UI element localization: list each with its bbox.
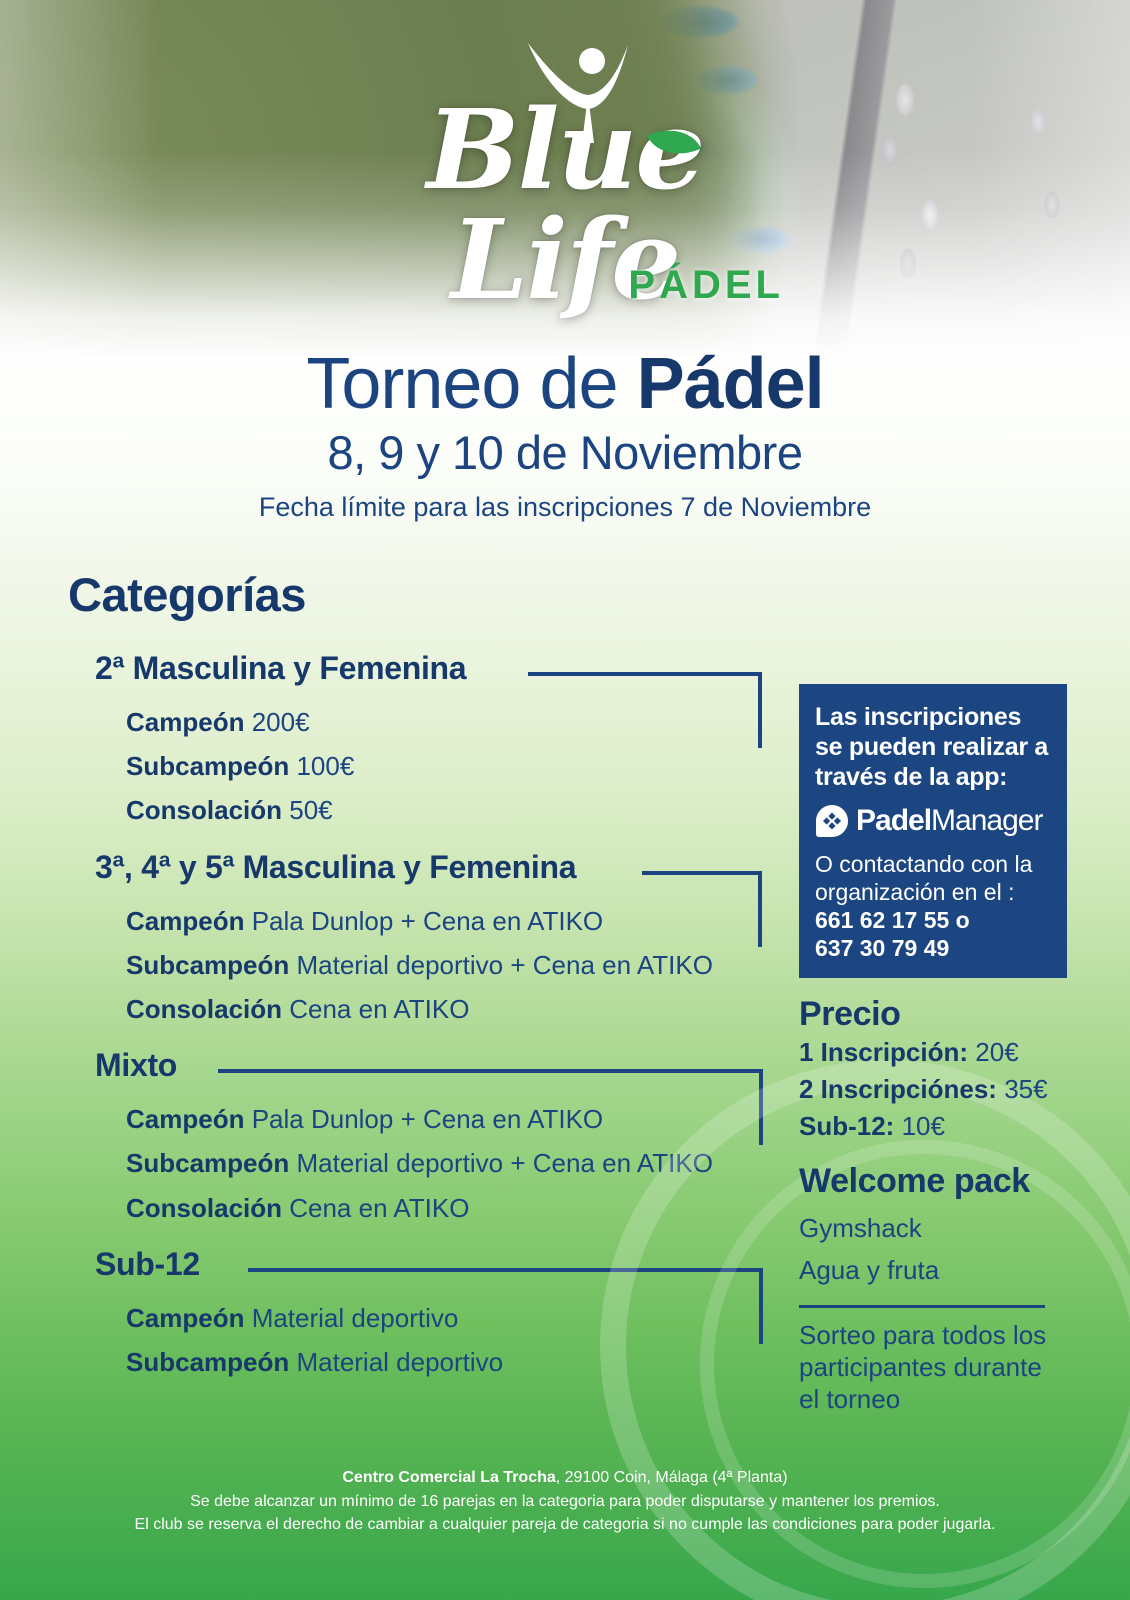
prize-value: Material deportivo bbox=[289, 1347, 503, 1377]
padelmanager-name-light: Manager bbox=[931, 804, 1042, 837]
padelmanager-wordmark: PadelManager bbox=[856, 806, 1042, 836]
prize-label: Consolación bbox=[126, 994, 282, 1024]
brand-subtitle: PÁDEL bbox=[628, 263, 784, 308]
prize-row: Campeón 200€ bbox=[126, 700, 790, 744]
category-block: Mixto Campeón Pala Dunlop + Cena en ATIK… bbox=[0, 1047, 790, 1230]
prize-row: Campeón Pala Dunlop + Cena en ATIKO bbox=[126, 1097, 790, 1141]
footer-venue-bold: Centro Comercial La Trocha bbox=[342, 1469, 555, 1486]
prize-label: Consolación bbox=[126, 795, 282, 825]
event-dates: 8, 9 y 10 de Noviembre bbox=[0, 425, 1130, 480]
categories-heading: Categorías bbox=[68, 567, 306, 622]
categories-list: 2ª Masculina y Femenina Campeón 200€ Sub… bbox=[0, 650, 790, 1390]
prize-list: Campeón 200€ Subcampeón 100€ Consolación… bbox=[0, 700, 790, 833]
price-row: Sub-12: 10€ bbox=[799, 1108, 1067, 1145]
contact-phone-2[interactable]: 637 30 79 49 bbox=[815, 934, 1051, 962]
prize-row: Consolación 50€ bbox=[126, 788, 790, 832]
registration-deadline: Fecha límite para las inscripciones 7 de… bbox=[0, 492, 1130, 523]
price-section: Precio 1 Inscripción: 20€ 2 Inscripcióne… bbox=[799, 994, 1067, 1145]
prize-row: Campeón Material deportivo bbox=[126, 1296, 790, 1340]
raffle-note: Sorteo para todos los participantes dura… bbox=[799, 1320, 1067, 1415]
price-row: 2 Inscripciónes: 35€ bbox=[799, 1071, 1067, 1108]
footer-venue: Centro Comercial La Trocha, 29100 Coin, … bbox=[0, 1466, 1130, 1490]
prize-label: Campeón bbox=[126, 1104, 244, 1134]
prize-label: Subcampeón bbox=[126, 1148, 289, 1178]
prize-row: Consolación Cena en ATIKO bbox=[126, 987, 790, 1031]
prize-label: Campeón bbox=[126, 707, 244, 737]
category-title: 3ª, 4ª y 5ª Masculina y Femenina bbox=[95, 849, 576, 886]
prize-value: Cena en ATIKO bbox=[282, 994, 469, 1024]
category-block: 2ª Masculina y Femenina Campeón 200€ Sub… bbox=[0, 650, 790, 833]
prize-label: Subcampeón bbox=[126, 950, 289, 980]
prize-row: Campeón Pala Dunlop + Cena en ATIKO bbox=[126, 899, 790, 943]
price-row: 1 Inscripción: 20€ bbox=[799, 1034, 1067, 1071]
prize-value: Pala Dunlop + Cena en ATIKO bbox=[244, 1104, 603, 1134]
prize-label: Campeón bbox=[126, 906, 244, 936]
category-title: Sub-12 bbox=[95, 1246, 200, 1283]
prize-label: Subcampeón bbox=[126, 751, 289, 781]
category-title: Mixto bbox=[95, 1047, 177, 1084]
price-label: 1 Inscripción: bbox=[799, 1037, 968, 1067]
category-block: Sub-12 Campeón Material deportivo Subcam… bbox=[0, 1246, 790, 1384]
prize-value: 200€ bbox=[244, 707, 309, 737]
contact-intro: O contactando con la organización en el … bbox=[815, 851, 1051, 906]
prize-list: Campeón Pala Dunlop + Cena en ATIKO Subc… bbox=[0, 1097, 790, 1230]
prize-value: Pala Dunlop + Cena en ATIKO bbox=[244, 906, 603, 936]
prize-label: Campeón bbox=[126, 1303, 244, 1333]
page-title-strong: Pádel bbox=[637, 344, 824, 424]
category-block: 3ª, 4ª y 5ª Masculina y Femenina Campeón… bbox=[0, 849, 790, 1032]
footer-rule-line-1: Se debe alcanzar un mínimo de 16 parejas… bbox=[0, 1490, 1130, 1514]
signup-box-title: Las inscripciones se pueden realizar a t… bbox=[815, 702, 1051, 792]
price-heading: Precio bbox=[799, 994, 1067, 1034]
welcome-pack-item: Gymshack bbox=[799, 1207, 1067, 1249]
padelmanager-name-bold: Padel bbox=[856, 804, 931, 837]
prize-row: Subcampeón Material deportivo + Cena en … bbox=[126, 1141, 790, 1185]
category-title: 2ª Masculina y Femenina bbox=[95, 650, 466, 687]
prize-row: Subcampeón 100€ bbox=[126, 744, 790, 788]
page-title-prefix: Torneo de bbox=[306, 344, 636, 424]
welcome-pack-section: Welcome pack Gymshack Agua y fruta bbox=[799, 1161, 1067, 1291]
prize-value: 50€ bbox=[282, 795, 333, 825]
price-value: 35€ bbox=[997, 1074, 1048, 1104]
footer-rule-line-2: El club se reserva el derecho de cambiar… bbox=[0, 1513, 1130, 1537]
signup-box: Las inscripciones se pueden realizar a t… bbox=[799, 684, 1067, 978]
footer: Centro Comercial La Trocha, 29100 Coin, … bbox=[0, 1466, 1130, 1537]
side-divider bbox=[799, 1305, 1045, 1308]
footer-venue-rest: , 29100 Coin, Málaga (4ª Planta) bbox=[556, 1469, 788, 1486]
price-value: 20€ bbox=[968, 1037, 1019, 1067]
padelmanager-logo-icon bbox=[815, 804, 849, 838]
prize-list: Campeón Material deportivo Subcampeón Ma… bbox=[0, 1296, 790, 1384]
padelmanager-logo[interactable]: PadelManager bbox=[815, 804, 1051, 838]
price-value: 10€ bbox=[894, 1111, 945, 1141]
brand-logo: Blue Life PÁDEL bbox=[300, 95, 830, 310]
prize-value: Material deportivo + Cena en ATIKO bbox=[289, 1148, 713, 1178]
prize-list: Campeón Pala Dunlop + Cena en ATIKO Subc… bbox=[0, 899, 790, 1032]
prize-value: Cena en ATIKO bbox=[282, 1193, 469, 1223]
poster-root: Blue Life PÁDEL Torneo de Pádel 8, 9 y 1… bbox=[0, 0, 1130, 1600]
welcome-pack-heading: Welcome pack bbox=[799, 1161, 1067, 1201]
prize-value: Material deportivo bbox=[244, 1303, 458, 1333]
welcome-pack-item: Agua y fruta bbox=[799, 1249, 1067, 1291]
contact-phone-1[interactable]: 661 62 17 55 o bbox=[815, 906, 1051, 934]
prize-row: Subcampeón Material deportivo + Cena en … bbox=[126, 943, 790, 987]
prize-label: Subcampeón bbox=[126, 1347, 289, 1377]
prize-value: Material deportivo + Cena en ATIKO bbox=[289, 950, 713, 980]
price-label: 2 Inscripciónes: bbox=[799, 1074, 997, 1104]
side-column: Las inscripciones se pueden realizar a t… bbox=[799, 684, 1067, 1416]
title-block: Torneo de Pádel 8, 9 y 10 de Noviembre F… bbox=[0, 348, 1130, 523]
prize-value: 100€ bbox=[289, 751, 354, 781]
page-title: Torneo de Pádel bbox=[0, 348, 1130, 421]
prize-row: Subcampeón Material deportivo bbox=[126, 1340, 790, 1384]
prize-row: Consolación Cena en ATIKO bbox=[126, 1186, 790, 1230]
price-label: Sub-12: bbox=[799, 1111, 894, 1141]
prize-label: Consolación bbox=[126, 1193, 282, 1223]
